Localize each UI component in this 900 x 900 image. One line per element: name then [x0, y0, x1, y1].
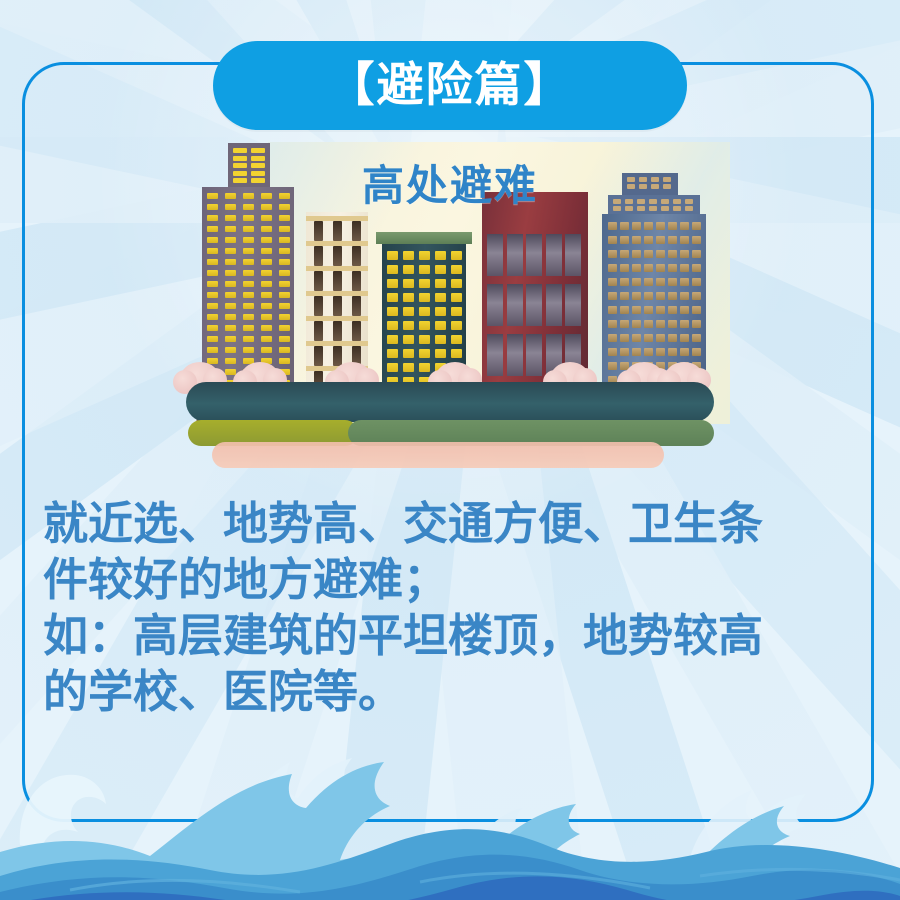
- building-window: [644, 264, 653, 272]
- building-window: [565, 234, 581, 276]
- building-window: [656, 306, 665, 314]
- building-window: [632, 334, 641, 342]
- building-window: [261, 292, 272, 298]
- building-window: [243, 259, 254, 265]
- building-window: [644, 306, 653, 314]
- building-window: [435, 307, 446, 316]
- body-line: 就近选、地势高、交通方便、卫生条: [43, 496, 855, 552]
- building-window: [261, 270, 272, 276]
- building-window: [507, 284, 523, 326]
- building-window: [243, 325, 254, 331]
- building-window: [692, 278, 701, 286]
- building-window: [333, 246, 342, 266]
- building-window: [620, 306, 629, 314]
- building-window: [487, 334, 503, 376]
- building-window: [419, 293, 430, 302]
- building-window: [632, 236, 641, 244]
- building-window: [279, 248, 290, 254]
- title-badge: 【避险篇】: [213, 41, 687, 130]
- building-window: [207, 325, 218, 331]
- building-window: [680, 348, 689, 356]
- building-window: [608, 250, 617, 258]
- building-window: [644, 348, 653, 356]
- building-window: [225, 226, 236, 232]
- building-window: [243, 292, 254, 298]
- building-window: [451, 279, 462, 288]
- building-window: [526, 234, 542, 276]
- building-window: [225, 270, 236, 276]
- building-window: [387, 307, 398, 316]
- building-window: [352, 221, 361, 241]
- building-window: [451, 335, 462, 344]
- building-window: [387, 335, 398, 344]
- building-window: [680, 236, 689, 244]
- building-window: [261, 336, 272, 342]
- building-window: [261, 314, 272, 320]
- building-window: [656, 278, 665, 286]
- building-window: [620, 334, 629, 342]
- building-window: [261, 303, 272, 309]
- building-window: [352, 271, 361, 291]
- building-window: [279, 281, 290, 287]
- building-window: [261, 237, 272, 243]
- building-window: [656, 264, 665, 272]
- building-window: [207, 237, 218, 243]
- building-window: [608, 320, 617, 328]
- building-window: [207, 270, 218, 276]
- building-window: [333, 296, 342, 316]
- building-window: [207, 303, 218, 309]
- building-window: [403, 265, 414, 274]
- building-window: [207, 292, 218, 298]
- building-window: [279, 325, 290, 331]
- building-window: [632, 264, 641, 272]
- ground-strip: [186, 382, 714, 422]
- building-window: [435, 279, 446, 288]
- building-window: [243, 237, 254, 243]
- building-window: [608, 334, 617, 342]
- building-window: [243, 314, 254, 320]
- building-window: [225, 237, 236, 243]
- building-window: [419, 251, 430, 260]
- building-window: [225, 325, 236, 331]
- building-window: [314, 246, 323, 266]
- building-window: [668, 306, 677, 314]
- building-window: [225, 314, 236, 320]
- building-window: [644, 278, 653, 286]
- building-window: [680, 222, 689, 230]
- building-window: [419, 307, 430, 316]
- body-line: 如：高层建筑的平坦楼顶，地势较高: [43, 608, 855, 664]
- building-window: [387, 363, 398, 372]
- building-window: [451, 321, 462, 330]
- building-window: [632, 292, 641, 300]
- building-window: [451, 307, 462, 316]
- building-window: [387, 349, 398, 358]
- building-window: [207, 226, 218, 232]
- building-window: [632, 250, 641, 258]
- building-window: [668, 264, 677, 272]
- building-window: [225, 281, 236, 287]
- building-window: [261, 347, 272, 353]
- building-window: [680, 250, 689, 258]
- building-window: [680, 264, 689, 272]
- building-window: [632, 306, 641, 314]
- building-window: [387, 293, 398, 302]
- building-window: [243, 270, 254, 276]
- building-window: [314, 221, 323, 241]
- building-window: [261, 226, 272, 232]
- building-window: [207, 347, 218, 353]
- building-window: [656, 222, 665, 230]
- building-window: [387, 279, 398, 288]
- building-window: [243, 303, 254, 309]
- building-window: [333, 321, 342, 341]
- building-window: [526, 284, 542, 326]
- building-window: [608, 264, 617, 272]
- building-window: [644, 236, 653, 244]
- building-window: [644, 222, 653, 230]
- building-window: [608, 306, 617, 314]
- building-window: [692, 348, 701, 356]
- building-window: [225, 347, 236, 353]
- building-window: [225, 336, 236, 342]
- poster-root: 【避险篇】 高处避难 就近选、地势高、交通方便、卫生条 件较好的地方避难； 如：…: [0, 0, 900, 900]
- building-window: [435, 335, 446, 344]
- building-window: [435, 349, 446, 358]
- building-window: [261, 215, 272, 221]
- building-window: [620, 292, 629, 300]
- building-window: [243, 281, 254, 287]
- building-window: [261, 281, 272, 287]
- building-window: [387, 251, 398, 260]
- building-window: [225, 259, 236, 265]
- building-window: [644, 250, 653, 258]
- building-window: [507, 334, 523, 376]
- building-window: [403, 349, 414, 358]
- building-window: [387, 265, 398, 274]
- building-window: [207, 248, 218, 254]
- building-window: [403, 321, 414, 330]
- building-window: [279, 226, 290, 232]
- building-window: [419, 321, 430, 330]
- building-window: [668, 278, 677, 286]
- building-window: [225, 358, 236, 364]
- building-window: [546, 234, 562, 276]
- building-window: [668, 250, 677, 258]
- page-subtitle: 高处避难: [0, 152, 900, 213]
- building-window: [279, 336, 290, 342]
- building-window: [419, 363, 430, 372]
- building-window: [644, 334, 653, 342]
- building-window: [608, 278, 617, 286]
- building-window: [487, 234, 503, 276]
- building-window: [243, 215, 254, 221]
- building-window: [261, 325, 272, 331]
- building-window: [632, 278, 641, 286]
- building-window: [333, 221, 342, 241]
- building-window: [680, 320, 689, 328]
- building-window: [225, 248, 236, 254]
- body-text-block: 就近选、地势高、交通方便、卫生条 件较好的地方避难； 如：高层建筑的平坦楼顶，地…: [43, 496, 855, 720]
- building-window: [333, 271, 342, 291]
- building-window: [608, 236, 617, 244]
- building-window: [419, 335, 430, 344]
- building-window: [279, 347, 290, 353]
- building-window: [261, 248, 272, 254]
- building-window: [632, 222, 641, 230]
- building-window: [692, 306, 701, 314]
- building-window: [243, 248, 254, 254]
- building-window: [668, 348, 677, 356]
- building-window: [692, 320, 701, 328]
- building-window: [314, 321, 323, 341]
- building-window: [656, 334, 665, 342]
- building-window: [451, 349, 462, 358]
- building-window: [419, 265, 430, 274]
- building-window: [207, 336, 218, 342]
- building-window: [608, 362, 617, 370]
- building-window: [314, 271, 323, 291]
- building-window: [668, 222, 677, 230]
- body-line: 的学校、医院等。: [43, 664, 855, 720]
- building-window: [225, 303, 236, 309]
- building-window: [680, 334, 689, 342]
- building-window: [451, 251, 462, 260]
- building-roof-cap-3: [376, 232, 472, 244]
- building-window: [565, 284, 581, 326]
- building-window: [692, 250, 701, 258]
- building-window: [403, 363, 414, 372]
- building-window: [451, 265, 462, 274]
- building-window: [279, 303, 290, 309]
- body-line: 件较好的地方避难；: [43, 552, 855, 608]
- building-window: [279, 215, 290, 221]
- building-window: [656, 250, 665, 258]
- building-window: [692, 222, 701, 230]
- building-window: [620, 250, 629, 258]
- building-window: [403, 335, 414, 344]
- building-window: [620, 264, 629, 272]
- building-window: [644, 320, 653, 328]
- building-window: [352, 321, 361, 341]
- wave-svg: [0, 740, 900, 900]
- building-window: [656, 320, 665, 328]
- building-window: [352, 246, 361, 266]
- building-window: [387, 321, 398, 330]
- building-window: [526, 334, 542, 376]
- building-window: [680, 306, 689, 314]
- title-badge-label: 【避险篇】: [328, 62, 573, 109]
- ocean-wave-icon: [0, 740, 900, 900]
- building-window: [680, 292, 689, 300]
- building-window: [207, 281, 218, 287]
- building-window: [435, 265, 446, 274]
- building-window: [279, 259, 290, 265]
- building-window: [314, 296, 323, 316]
- building-window: [608, 222, 617, 230]
- building-window: [632, 348, 641, 356]
- building-window: [668, 320, 677, 328]
- building-window: [692, 292, 701, 300]
- building-window: [419, 279, 430, 288]
- building-window: [656, 292, 665, 300]
- building-window: [620, 278, 629, 286]
- building-window: [435, 321, 446, 330]
- building-window: [608, 348, 617, 356]
- building-window: [546, 284, 562, 326]
- building-window: [207, 215, 218, 221]
- building-window: [207, 314, 218, 320]
- building-window: [279, 314, 290, 320]
- building-window: [279, 237, 290, 243]
- building-window: [668, 334, 677, 342]
- building-window: [680, 278, 689, 286]
- building-window: [656, 348, 665, 356]
- building-window: [403, 251, 414, 260]
- building-window: [668, 236, 677, 244]
- building-window: [632, 320, 641, 328]
- building-window: [314, 346, 323, 366]
- building-window: [435, 251, 446, 260]
- building-window: [692, 236, 701, 244]
- building-window: [225, 369, 236, 375]
- pink-strip: [212, 442, 664, 468]
- building-window: [608, 292, 617, 300]
- building-window: [403, 279, 414, 288]
- building-window: [692, 334, 701, 342]
- building-window: [261, 259, 272, 265]
- building-window: [692, 264, 701, 272]
- building-window: [620, 236, 629, 244]
- building-window: [243, 336, 254, 342]
- building-window: [620, 348, 629, 356]
- building-window: [225, 215, 236, 221]
- building-window: [487, 284, 503, 326]
- building-window: [352, 296, 361, 316]
- building-window: [451, 293, 462, 302]
- building-window: [668, 292, 677, 300]
- building-window: [620, 320, 629, 328]
- building-window: [243, 226, 254, 232]
- building-window: [279, 292, 290, 298]
- building-window: [656, 236, 665, 244]
- building-window: [507, 234, 523, 276]
- building-window: [419, 349, 430, 358]
- building-window: [243, 347, 254, 353]
- building-window: [207, 259, 218, 265]
- building-window: [403, 293, 414, 302]
- building-window: [279, 270, 290, 276]
- building-window: [403, 307, 414, 316]
- building-window: [644, 292, 653, 300]
- building-window: [225, 292, 236, 298]
- building-window: [620, 222, 629, 230]
- building-window: [435, 293, 446, 302]
